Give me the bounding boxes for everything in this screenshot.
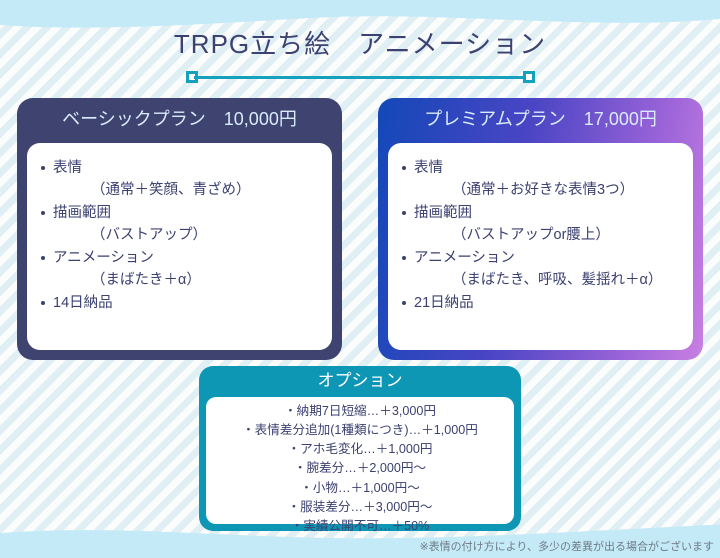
- plan-premium-item-detail: （バストアップor腰上）: [400, 224, 681, 246]
- plan-premium-item: 描画範囲: [400, 202, 681, 224]
- plan-premium-feature-list: 表情 （通常＋お好きな表情3つ） 描画範囲 （バストアップor腰上） アニメーシ…: [388, 157, 693, 314]
- title-underline-rule: [186, 70, 535, 84]
- option-list-item: ・表情差分追加(1種類につき)…＋1,000円: [206, 421, 514, 440]
- plan-card-premium-body: 表情 （通常＋お好きな表情3つ） 描画範囲 （バストアップor腰上） アニメーシ…: [388, 143, 693, 350]
- plan-card-premium[interactable]: プレミアムプラン 17,000円 表情 （通常＋お好きな表情3つ） 描画範囲 （…: [378, 98, 703, 360]
- plan-premium-item: アニメーション: [400, 247, 681, 269]
- plan-basic-item-detail: （通常＋笑顔、青ざめ）: [39, 179, 320, 201]
- plan-premium-item: 21日納品: [400, 292, 681, 314]
- plan-premium-item-detail: （まばたき、呼吸、髪揺れ＋α）: [400, 269, 681, 291]
- plan-basic-item: アニメーション: [39, 247, 320, 269]
- option-card-header: オプション: [199, 366, 521, 395]
- plan-premium-item: 表情: [400, 157, 681, 179]
- plan-card-basic-body: 表情 （通常＋笑顔、青ざめ） 描画範囲 （バストアップ） アニメーション （まば…: [27, 143, 332, 350]
- poster-canvas: TRPG立ち絵 アニメーション ベーシックプラン 10,000円 表情 （通常＋…: [0, 0, 720, 558]
- option-list-item: ・実績公開不可…＋50%: [206, 517, 514, 536]
- plan-basic-feature-list: 表情 （通常＋笑顔、青ざめ） 描画範囲 （バストアップ） アニメーション （まば…: [27, 157, 332, 314]
- option-list-item: ・納期7日短縮…＋3,000円: [206, 402, 514, 421]
- page-title-block: TRPG立ち絵 アニメーション: [0, 24, 720, 84]
- plan-basic-item-detail: （バストアップ）: [39, 224, 320, 246]
- option-list-item: ・服装差分…＋3,000円〜: [206, 498, 514, 517]
- option-card[interactable]: オプション ・納期7日短縮…＋3,000円 ・表情差分追加(1種類につき)…＋1…: [199, 366, 521, 531]
- rule-bar: [194, 76, 527, 79]
- plan-basic-item-detail: （まばたき＋α）: [39, 269, 320, 291]
- option-list-item: ・アホ毛変化…＋1,000円: [206, 440, 514, 459]
- plan-card-premium-header: プレミアムプラン 17,000円: [378, 98, 703, 141]
- option-list-item: ・小物…＋1,000円〜: [206, 479, 514, 498]
- option-list: ・納期7日短縮…＋3,000円 ・表情差分追加(1種類につき)…＋1,000円 …: [206, 402, 514, 536]
- option-list-item: ・腕差分…＋2,000円〜: [206, 459, 514, 478]
- plan-basic-item: 描画範囲: [39, 202, 320, 224]
- rule-cap-right-icon: [523, 71, 535, 83]
- footnote-disclaimer: ※表情の付け方により、多少の差異が出る場合がございます: [419, 538, 714, 554]
- plan-card-basic[interactable]: ベーシックプラン 10,000円 表情 （通常＋笑顔、青ざめ） 描画範囲 （バス…: [17, 98, 342, 360]
- plan-premium-item-detail: （通常＋お好きな表情3つ）: [400, 179, 681, 201]
- plan-basic-item: 表情: [39, 157, 320, 179]
- plan-card-basic-header: ベーシックプラン 10,000円: [17, 98, 342, 141]
- option-card-body: ・納期7日短縮…＋3,000円 ・表情差分追加(1種類につき)…＋1,000円 …: [206, 397, 514, 524]
- plan-basic-item: 14日納品: [39, 292, 320, 314]
- page-title: TRPG立ち絵 アニメーション: [0, 24, 720, 61]
